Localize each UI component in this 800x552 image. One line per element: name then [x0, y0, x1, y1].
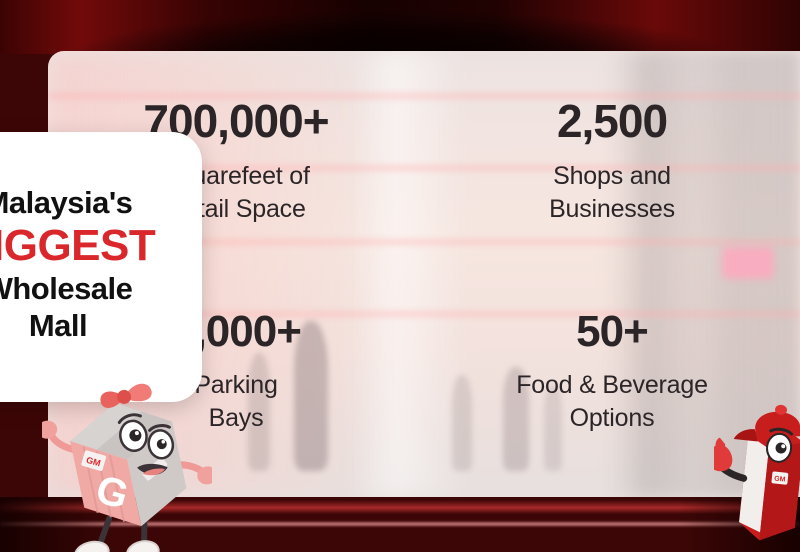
- headline-line-1: Malaysia's: [0, 186, 132, 221]
- red-box-mascot: GM: [714, 392, 800, 552]
- headline-card: Malaysia's BIGGEST Wholesale Mall: [0, 132, 202, 402]
- headline-line-2-accent: BIGGEST: [0, 222, 155, 270]
- stat-label: Shops and Businesses: [436, 160, 788, 226]
- headline-line-3: Wholesale: [0, 272, 132, 307]
- stat-label-line-1: Shops and: [436, 160, 788, 193]
- svg-text:GM: GM: [774, 476, 786, 484]
- pink-box-mascot: GM G: [42, 378, 212, 552]
- stat-shops: 2,500 Shops and Businesses: [424, 98, 800, 226]
- stat-number: 2,500: [436, 98, 788, 146]
- stat-number: 50+: [436, 309, 788, 355]
- stat-label-line-2: Businesses: [436, 193, 788, 226]
- headline-line-4: Mall: [29, 307, 87, 345]
- promo-banner: 700,000+ Squarefeet of Retail Space 2,50…: [0, 0, 800, 552]
